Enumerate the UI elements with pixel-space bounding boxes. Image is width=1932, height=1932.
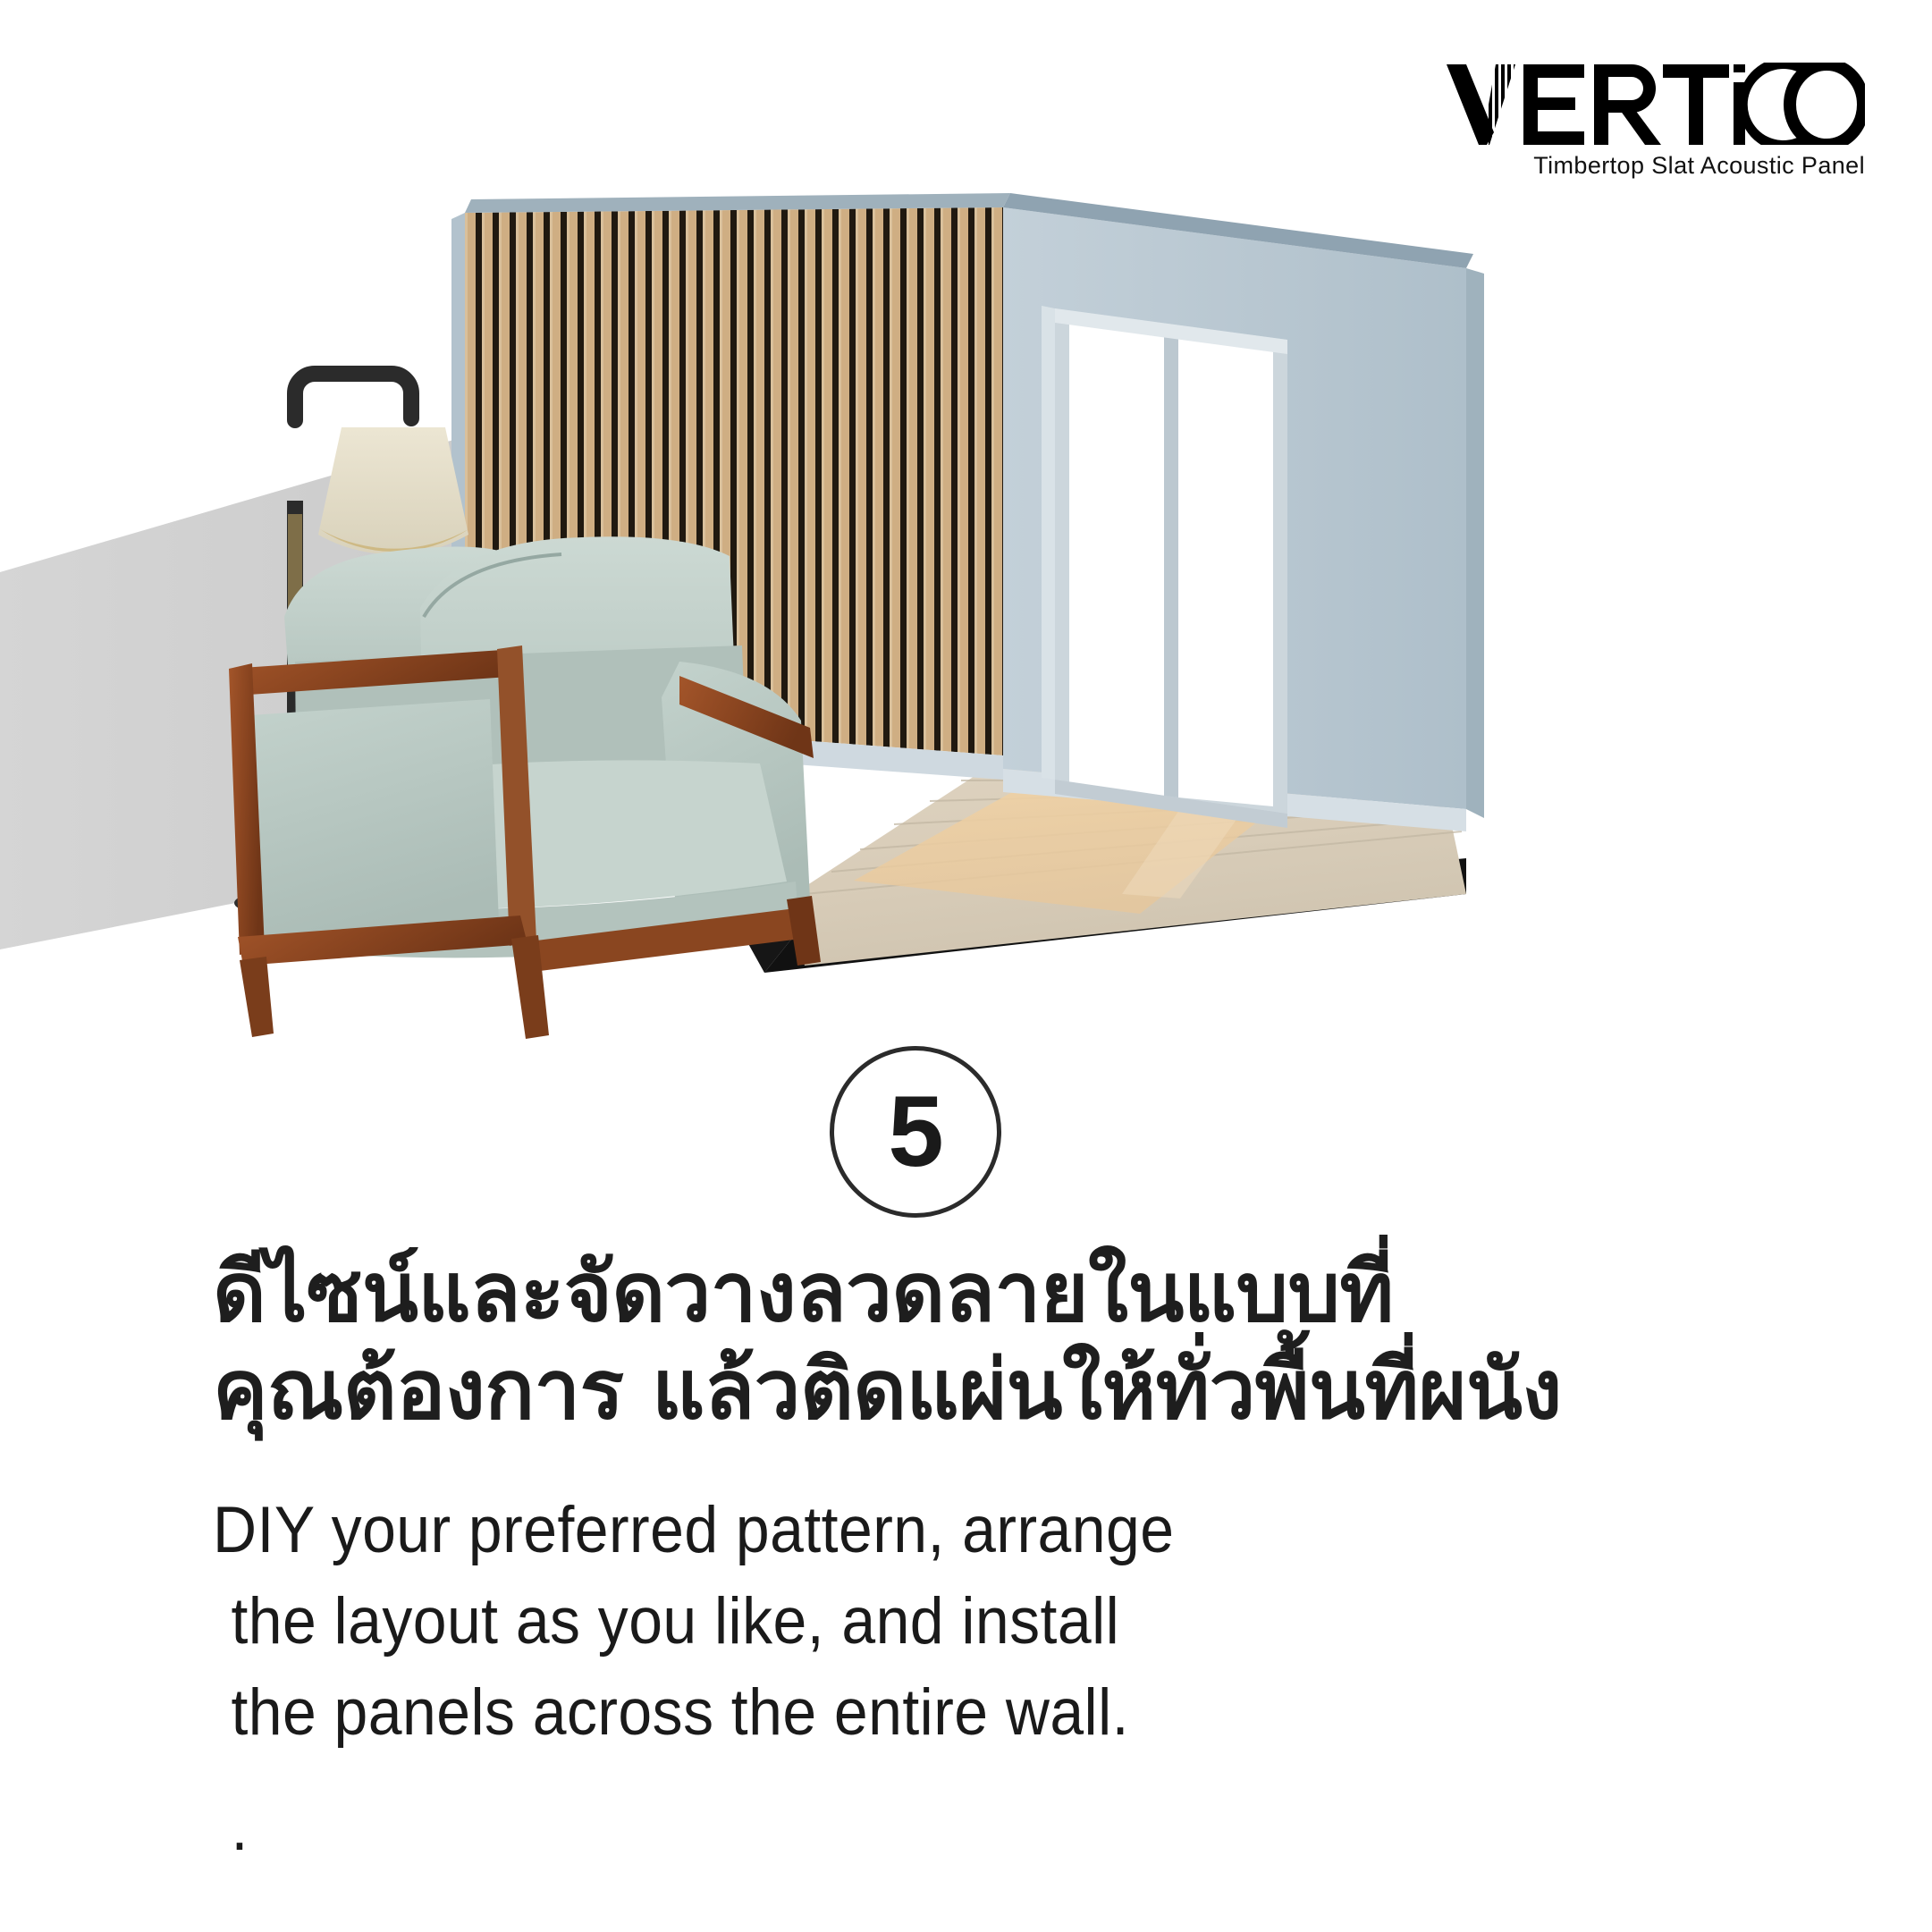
sliding-door-mullion (1164, 336, 1178, 797)
headline-thai-line2: คุณต้องการ แล้วติดแผ่นให้ทั่วพื้นที่ผนัง (213, 1342, 1733, 1439)
copy-block: ดีไซน์และจัดวางลวดลายในแบบที่ คุณต้องการ… (213, 1244, 1733, 1860)
headline-thai-line1: ดีไซน์และจัดวางลวดลายในแบบที่ (213, 1244, 1733, 1342)
step-number: 5 (888, 1082, 942, 1182)
lamp-shade (318, 427, 468, 554)
blue-wall-right-edge (1466, 268, 1484, 818)
body-english-line4: . (213, 1795, 1626, 1860)
room-scene-svg (0, 0, 1932, 1055)
room-render-illustration (0, 0, 1932, 1055)
step-number-badge: 5 (830, 1046, 1001, 1218)
chair-leg-front-left (240, 957, 274, 1037)
sliding-door-glass-right (1178, 338, 1273, 806)
armchair (229, 536, 821, 1039)
body-english: DIY your preferred pattern, arrange the … (213, 1485, 1626, 1860)
sliding-door-glass-left (1069, 324, 1164, 796)
body-english-line2: the layout as you like, and install (213, 1576, 1626, 1667)
chair-left-arm-fabric (250, 699, 499, 942)
door-reveal-left (1042, 306, 1055, 780)
body-english-line1: DIY your preferred pattern, arrange (213, 1485, 1626, 1576)
headline-thai: ดีไซน์และจัดวางลวดลายในแบบที่ คุณต้องการ… (213, 1244, 1733, 1438)
poster-canvas: Timbertop Slat Acoustic Panel (0, 0, 1932, 1932)
body-english-line3: the panels across the entire wall. (213, 1667, 1626, 1759)
